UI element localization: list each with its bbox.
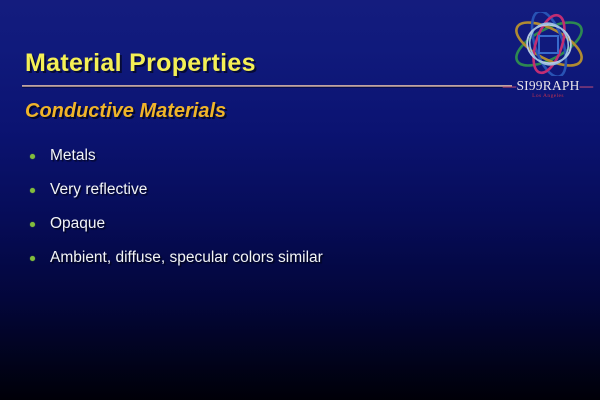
list-item-label: Opaque	[50, 207, 105, 241]
slide-subtitle: Conductive Materials	[25, 100, 226, 123]
page-title: Material Properties	[25, 49, 256, 78]
list-item-label: Ambient, diffuse, specular colors simila…	[50, 241, 323, 275]
siggraph-logo: —SI99RAPH— Los Angeles	[500, 12, 596, 104]
title-divider	[22, 85, 512, 87]
logo-dash-left: —	[503, 78, 517, 93]
bullet-dot-icon	[30, 154, 35, 159]
list-item: Very reflective	[28, 173, 528, 207]
siggraph-atom-icon	[508, 12, 590, 76]
bullet-dot-icon	[30, 222, 35, 227]
logo-wordmark: —SI99RAPH—	[500, 78, 596, 94]
list-item-label: Metals	[50, 139, 96, 173]
logo-dash-right: —	[580, 78, 594, 93]
list-item: Ambient, diffuse, specular colors simila…	[28, 241, 528, 275]
list-item: Opaque	[28, 207, 528, 241]
presentation-slide: Material Properties Conductive Materials…	[0, 0, 600, 400]
bullet-dot-icon	[30, 256, 35, 261]
logo-wordmark-text: SI99RAPH	[516, 78, 579, 93]
bullet-list: Metals Very reflective Opaque Ambient, d…	[28, 139, 528, 275]
logo-city-label: Los Angeles	[500, 93, 596, 99]
list-item: Metals	[28, 139, 528, 173]
bullet-dot-icon	[30, 188, 35, 193]
list-item-label: Very reflective	[50, 173, 147, 207]
